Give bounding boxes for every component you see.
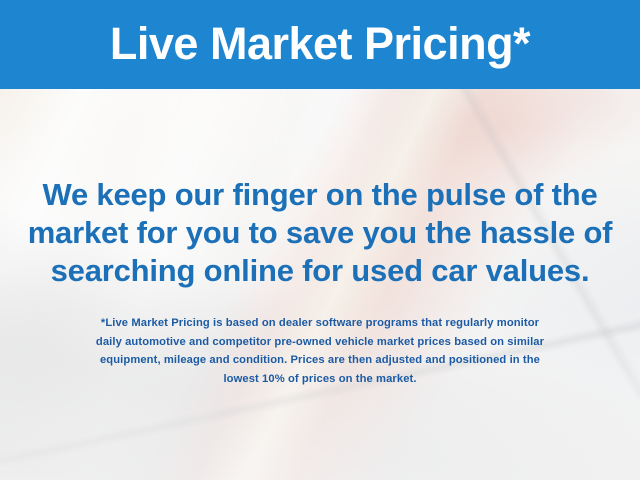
fineprint-disclaimer: *Live Market Pricing is based on dealer … bbox=[0, 314, 640, 388]
headline-line-2: market for you to save you the hassle of bbox=[0, 214, 640, 252]
header-banner: Live Market Pricing* bbox=[0, 0, 640, 89]
fineprint-line-1: *Live Market Pricing is based on dealer … bbox=[0, 314, 640, 333]
promo-banner-graphic: Live Market Pricing* We keep our finger … bbox=[0, 0, 640, 480]
fineprint-line-2: daily automotive and competitor pre-owne… bbox=[0, 333, 640, 352]
headline-line-3: searching online for used car values. bbox=[0, 252, 640, 290]
fineprint-line-4: lowest 10% of prices on the market. bbox=[0, 370, 640, 389]
banner-title: Live Market Pricing* bbox=[110, 21, 530, 69]
headline: We keep our finger on the pulse of the m… bbox=[0, 176, 640, 290]
content-area: We keep our finger on the pulse of the m… bbox=[0, 89, 640, 480]
headline-line-1: We keep our finger on the pulse of the bbox=[0, 176, 640, 214]
fineprint-line-3: equipment, mileage and condition. Prices… bbox=[0, 351, 640, 370]
